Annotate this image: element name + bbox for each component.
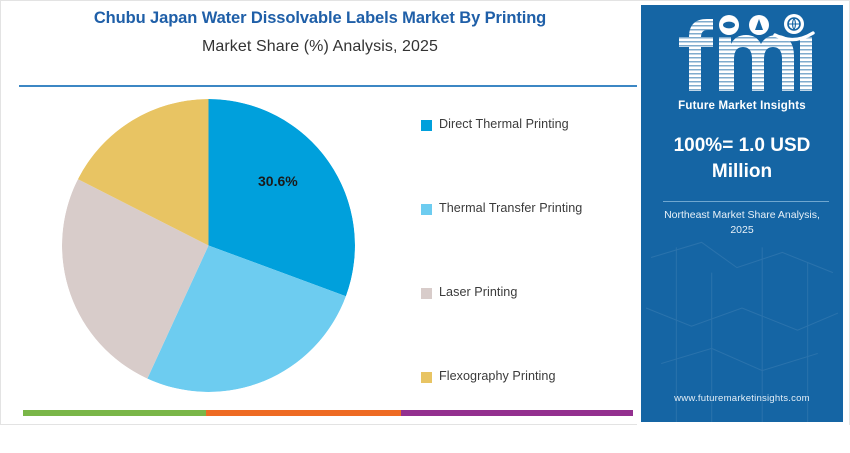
legend-item-label: Laser Printing: [439, 285, 517, 300]
bottom-bar-segment: [23, 410, 206, 416]
chart-panel: Chubu Japan Water Dissolvable Labels Mar…: [1, 1, 639, 426]
fmi-letter-m: [719, 35, 794, 91]
legend-swatch-icon: [421, 120, 432, 131]
caption-block: Northeast Market Share Analysis, 2025: [641, 208, 843, 238]
legend-item-label: Flexography Printing: [439, 369, 556, 384]
website-url[interactable]: www.futuremarketinsights.com: [641, 393, 843, 404]
chart-page: Chubu Japan Water Dissolvable Labels Mar…: [0, 0, 850, 425]
legend-item-laser-printing[interactable]: Laser Printing: [421, 285, 636, 369]
pie-slice-label: 30.6%: [258, 173, 298, 189]
legend-item-label: Direct Thermal Printing: [439, 117, 569, 132]
pie-chart: 30.6%: [62, 99, 355, 392]
brand-name: Future Market Insights: [641, 100, 843, 112]
fmi-letter-f: [679, 19, 713, 91]
value-block: 100%= 1.0 USD Million: [641, 133, 843, 184]
caption-text: Northeast Market Share Analysis, 2025: [651, 208, 833, 238]
value-text: 100%= 1.0 USD Million: [653, 133, 831, 184]
fmi-logo-mark: [667, 13, 817, 99]
fmi-logo: Future Market Insights: [641, 13, 843, 112]
brand-panel: Future Market Insights 100%= 1.0 USD Mil…: [637, 1, 849, 426]
legend-swatch-icon: [421, 372, 432, 383]
title-divider: [19, 85, 639, 87]
legend-item-label: Thermal Transfer Printing: [439, 201, 582, 216]
bottom-bar-segment: [401, 410, 633, 416]
fmi-letter-i: [800, 37, 812, 91]
pie-svg: [62, 99, 355, 392]
legend-item-thermal-transfer-printing[interactable]: Thermal Transfer Printing: [421, 201, 636, 285]
brand-panel-inner: Future Market Insights 100%= 1.0 USD Mil…: [641, 5, 843, 422]
legend-item-direct-thermal-printing[interactable]: Direct Thermal Printing: [421, 117, 636, 201]
page-title: Chubu Japan Water Dissolvable Labels Mar…: [1, 7, 639, 29]
legend-swatch-icon: [421, 204, 432, 215]
bottom-color-bar: [23, 410, 633, 416]
value-divider: [663, 201, 829, 202]
bottom-bar-segment: [206, 410, 401, 416]
legend-swatch-icon: [421, 288, 432, 299]
legend: Direct Thermal Printing Thermal Transfer…: [421, 117, 636, 453]
page-subtitle: Market Share (%) Analysis, 2025: [1, 36, 639, 58]
title-block: Chubu Japan Water Dissolvable Labels Mar…: [1, 7, 639, 59]
